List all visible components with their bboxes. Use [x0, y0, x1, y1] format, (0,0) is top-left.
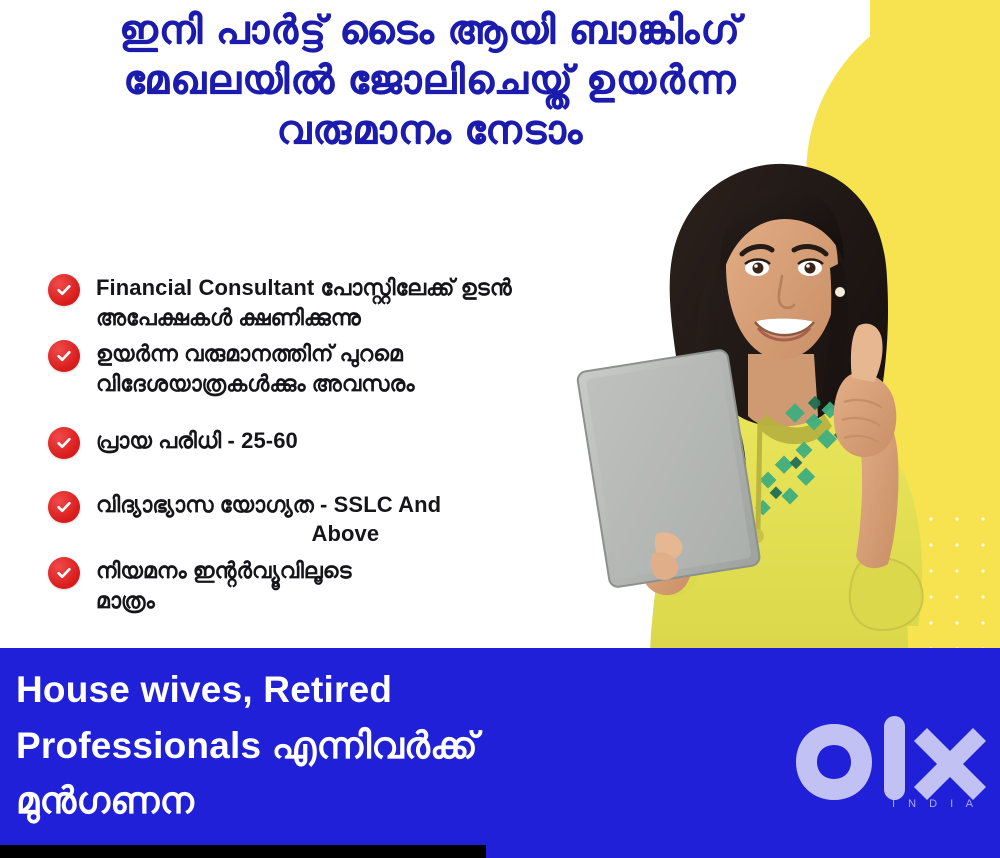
- banner-line-3: മുൻഗണന: [16, 773, 676, 829]
- list-item-line-2: മാത്രം: [96, 586, 352, 616]
- list-item: നിയമനം ഇൻ്റർവ്യൂവിലൂടെ മാത്രം: [48, 555, 568, 615]
- banner-line-2: Professionals എന്നിവർക്ക്: [16, 718, 676, 774]
- headline-line-2: മേഖലയിൽ ജോലിചെയ്ത് ഉയർന്ന: [0, 56, 860, 106]
- list-item-line-1: Financial Consultant പോസ്റ്റിലേക്ക് ഉടൻ: [96, 275, 512, 300]
- list-item-text: Financial Consultant പോസ്റ്റിലേക്ക് ഉടൻ …: [96, 272, 512, 332]
- headline-line-3: വരുമാനം നേടാം: [0, 106, 860, 156]
- check-circle-icon: [48, 340, 80, 372]
- check-circle-icon: [48, 427, 80, 459]
- headline: ഇനി പാർട്ട് ടൈം ആയി ബാങ്കിംഗ് മേഖലയിൽ ജോ…: [0, 6, 860, 156]
- list-item: Financial Consultant പോസ്റ്റിലേക്ക് ഉടൻ …: [48, 272, 568, 332]
- olx-region-label: I N D I A: [892, 798, 978, 810]
- list-item-line-1: ഉയർന്ന വരുമാനത്തിന് പുറമെ: [96, 341, 403, 366]
- list-item-line-1: നിയമനം ഇൻ്റർവ്യൂവിലൂടെ: [96, 558, 352, 583]
- bottom-black-strip: [0, 845, 486, 858]
- benefits-list: Financial Consultant പോസ്റ്റിലേക്ക് ഉടൻ …: [48, 272, 568, 626]
- list-item-text: നിയമനം ഇൻ്റർവ്യൂവിലൂടെ മാത്രം: [96, 555, 352, 615]
- woman-with-tablet-photo: [552, 158, 1000, 650]
- list-item: വിദ്യാഭ്യാസ യോഗ്യത - SSLC And Above: [48, 489, 568, 549]
- banner-line-1: House wives, Retired: [16, 662, 676, 718]
- bottom-banner: House wives, Retired Professionals എന്നി…: [0, 648, 1000, 858]
- list-item-line-2: Above: [96, 519, 441, 549]
- check-circle-icon: [48, 557, 80, 589]
- check-circle-icon: [48, 491, 80, 523]
- list-item-text: പ്രായ പരിധി - 25-60: [96, 425, 298, 456]
- banner-text: House wives, Retired Professionals എന്നി…: [16, 662, 676, 829]
- advertisement-poster: ഇനി പാർട്ട് ടൈം ആയി ബാങ്കിംഗ് മേഖലയിൽ ജോ…: [0, 0, 1000, 858]
- list-item-line-1: വിദ്യാഭ്യാസ യോഗ്യത - SSLC And: [96, 492, 441, 517]
- list-item-text: വിദ്യാഭ്യാസ യോഗ്യത - SSLC And Above: [96, 489, 441, 549]
- check-circle-icon: [48, 274, 80, 306]
- list-item: ഉയർന്ന വരുമാനത്തിന് പുറമെ വിദേശയാത്രകൾക്…: [48, 338, 568, 398]
- list-item: പ്രായ പരിധി - 25-60: [48, 425, 568, 459]
- list-item-line-2: അപേക്ഷകൾ ക്ഷണിക്കുന്നു: [96, 303, 512, 333]
- list-item-line-2: വിദേശയാത്രകൾക്കും അവസരം: [96, 369, 415, 399]
- list-item-line-1: പ്രായ പരിധി - 25-60: [96, 428, 298, 453]
- olx-logo-icon: [790, 714, 986, 810]
- headline-line-1: ഇനി പാർട്ട് ടൈം ആയി ബാങ്കിംഗ്: [0, 6, 860, 56]
- list-item-text: ഉയർന്ന വരുമാനത്തിന് പുറമെ വിദേശയാത്രകൾക്…: [96, 338, 415, 398]
